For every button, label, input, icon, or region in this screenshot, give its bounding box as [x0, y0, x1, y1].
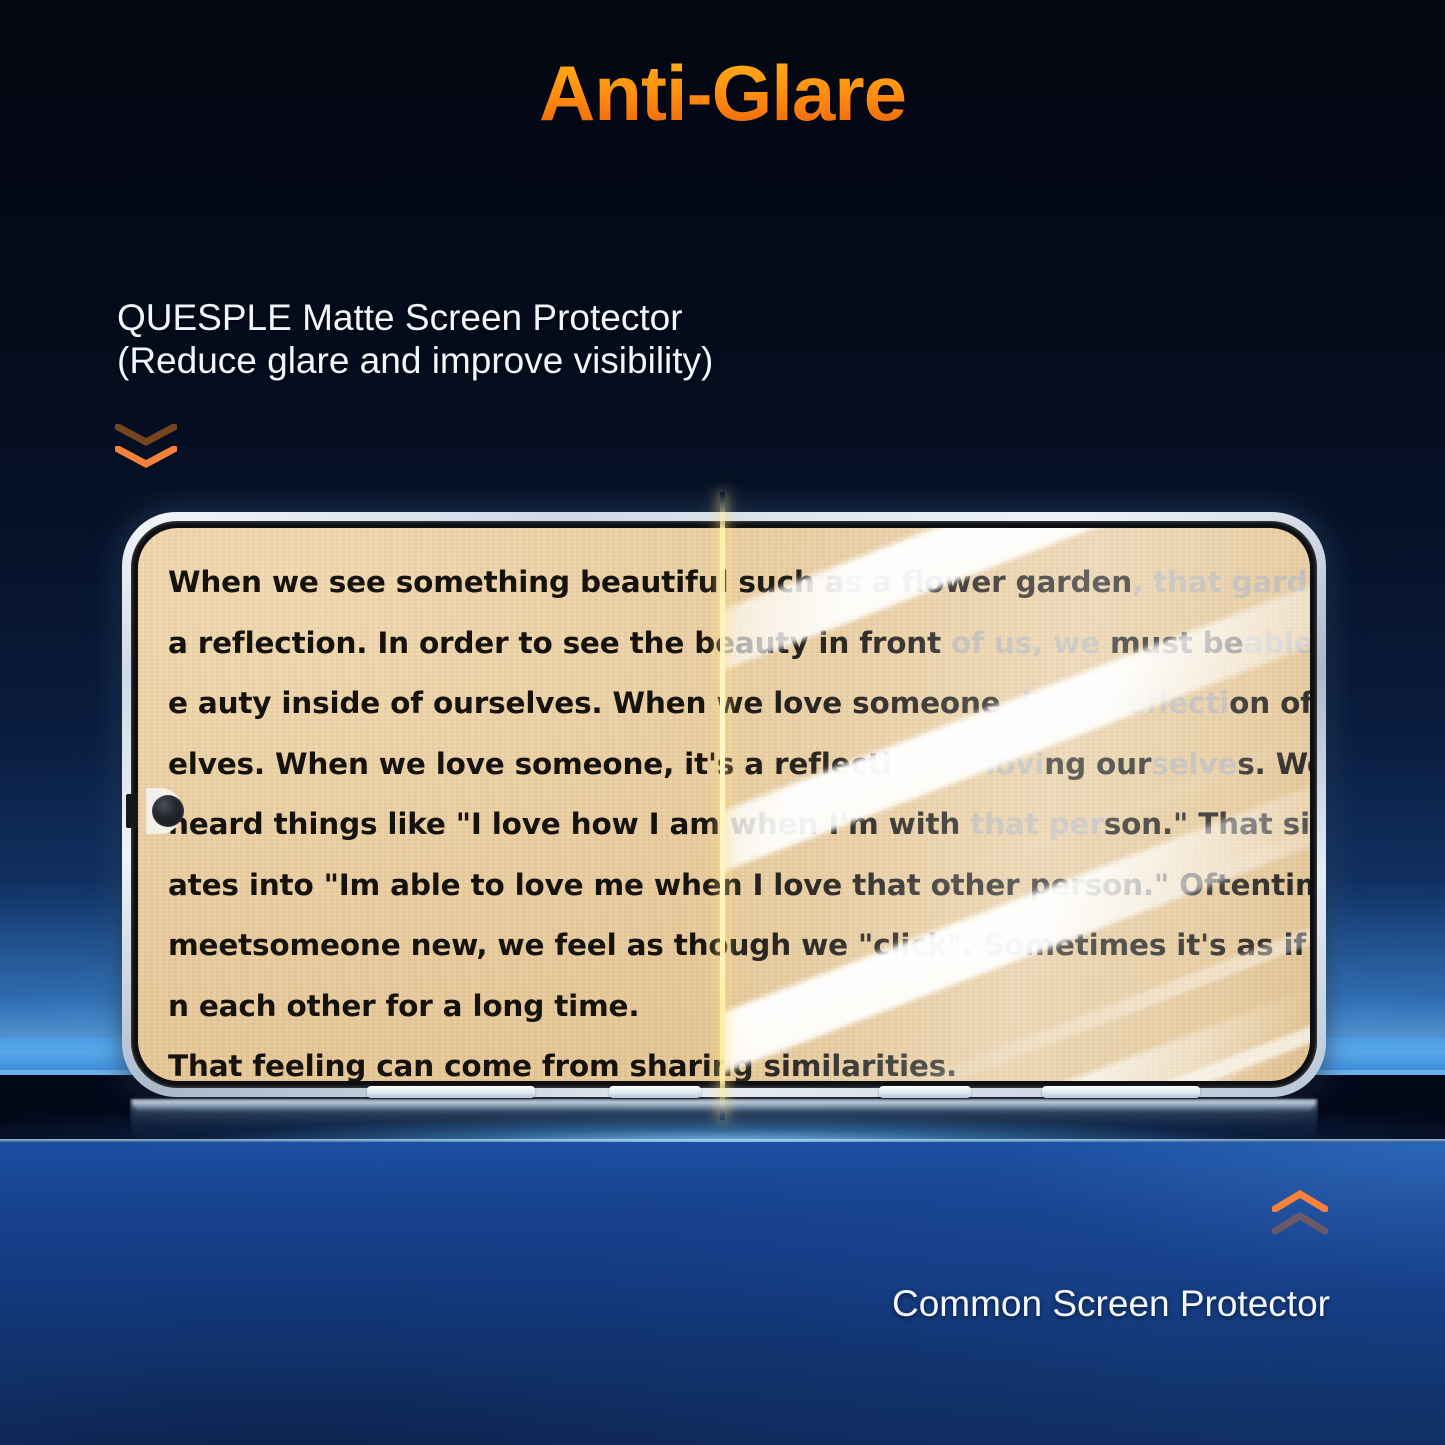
text-segment-clear: that other person." Oftentimes: [852, 868, 1310, 902]
product-subtitle: QUESPLE Matte Screen Protector (Reduce g…: [117, 297, 977, 383]
text-segment-clear: a reflection. In order to see the beauty…: [168, 626, 859, 660]
text-segment-washed: of us, we: [941, 626, 1110, 660]
camera-lens: [152, 795, 184, 827]
text-segment-washed: abl: [1243, 626, 1294, 660]
frame-button: [1042, 1086, 1200, 1098]
chevron-double-down-icon: [115, 424, 177, 480]
comparison-divider-line: [720, 492, 725, 1120]
product-ad-canvas: Anti-Glare QUESPLE Matte Screen Protecto…: [0, 0, 1445, 1445]
common-protector-label: Common Screen Protector: [0, 1283, 1330, 1325]
text-segment-clear: n each other for a long time.: [168, 989, 639, 1023]
text-segment-clear: must be: [1110, 626, 1243, 660]
text-segment-clear: son." That simplytransl: [1104, 807, 1310, 841]
text-segment-clear: ng our: [1044, 747, 1151, 781]
text-segment-washed: selve: [1151, 747, 1237, 781]
chevron-double-up-icon: [1272, 1190, 1328, 1242]
text-segment-clear: e auty inside of ourselves. When we love: [168, 686, 852, 720]
page-title: Anti-Glare: [0, 48, 1445, 139]
text-segment-washed: on of lovi: [892, 747, 1045, 781]
camera-notch: [126, 794, 138, 828]
text-segment-clear: heard things like "I love how I am when …: [168, 807, 960, 841]
text-segment-clear: on of: [1229, 686, 1310, 720]
product-subtitle-line-1: QUESPLE Matte Screen Protector: [117, 297, 977, 340]
text-segment-clear: That feeling can come from sharing simil…: [168, 1049, 957, 1081]
text-segment-clear: elves. When we love someone, it's a refl…: [168, 747, 892, 781]
text-segment-clear: meetsomeone new, we feel as though we "c…: [168, 928, 1310, 962]
text-segment-clear: s. We haveoften: [1237, 747, 1310, 781]
product-subtitle-line-2: (Reduce glare and improve visibility): [117, 340, 977, 383]
text-segment-washed: , it's a reflecti: [1001, 686, 1230, 720]
frame-button: [367, 1086, 535, 1098]
frame-button: [609, 1086, 701, 1098]
text-segment-clear: front: [859, 626, 941, 660]
text-segment-washed: , that garden serv: [1132, 565, 1310, 599]
text-segment-clear: someone: [852, 686, 1000, 720]
text-segment-washed: e to see the: [1294, 626, 1310, 660]
front-camera-icon: [136, 788, 182, 834]
text-segment-clear: ates into "Im able to love me when I lov…: [168, 868, 852, 902]
text-segment-clear: When we see something beautiful such as …: [168, 565, 1132, 599]
text-segment-washed: that per: [960, 807, 1104, 841]
frame-button: [879, 1086, 971, 1098]
